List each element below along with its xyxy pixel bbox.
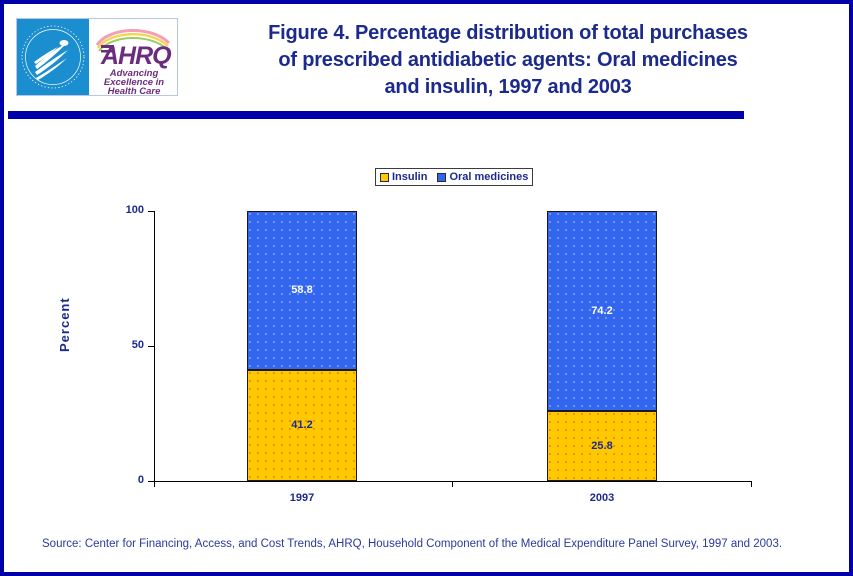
page-title-line-3: and insulin, 1997 and 2003: [188, 74, 828, 101]
bar-segment-2003-oral-medicines[interactable]: 74.2: [547, 211, 657, 411]
legend-swatch-oral-medicines: [437, 173, 446, 182]
x-tick-end: [751, 481, 752, 487]
bar-2003[interactable]: 74.2 25.8: [547, 211, 657, 481]
plot-area: 58.8 41.2 74.2 25.8: [154, 211, 751, 481]
bar-segment-1997-oral-medicines[interactable]: 58.8: [247, 211, 357, 370]
x-tick-start: [154, 481, 155, 487]
y-tick-label-50: 50: [116, 339, 144, 351]
y-tick-label-100: 100: [116, 204, 144, 216]
page-title-line-2: of prescribed antidiabetic agents: Oral …: [188, 47, 828, 74]
figure-header: AHRQ Advancing Excellence in Health Care…: [8, 8, 853, 108]
bar-value-1997-oral-medicines: 58.8: [291, 284, 312, 296]
bar-value-2003-insulin: 25.8: [591, 440, 612, 452]
bar-1997[interactable]: 58.8 41.2: [247, 211, 357, 481]
source-note: Source: Center for Financing, Access, an…: [42, 536, 817, 552]
y-axis-title: Percent: [57, 270, 73, 380]
bar-segment-2003-insulin[interactable]: 25.8: [547, 411, 657, 481]
page-title-line-1: Figure 4. Percentage distribution of tot…: [188, 20, 828, 47]
ahrq-wordmark: AHRQ Advancing Excellence in Health Care: [89, 19, 177, 95]
chart-legend: Insulin Oral medicines: [375, 168, 533, 186]
figure-frame: AHRQ Advancing Excellence in Health Care…: [0, 0, 853, 576]
y-tick-label-0: 0: [116, 474, 144, 486]
x-category-label-2003: 2003: [542, 492, 662, 504]
legend-item-oral-medicines[interactable]: Oral medicines: [437, 171, 528, 183]
svg-text:Health Care: Health Care: [108, 86, 162, 95]
bar-value-2003-oral-medicines: 74.2: [591, 305, 612, 317]
bar-segment-1997-insulin[interactable]: 41.2: [247, 370, 357, 481]
legend-item-insulin[interactable]: Insulin: [380, 171, 427, 183]
bar-value-1997-insulin: 41.2: [291, 419, 312, 431]
legend-swatch-insulin: [380, 173, 389, 182]
x-tick-middle: [452, 481, 453, 487]
x-category-label-1997: 1997: [242, 492, 362, 504]
page-title: Figure 4. Percentage distribution of tot…: [188, 20, 828, 101]
hhs-seal-icon: [17, 19, 89, 95]
ahrq-logo: AHRQ Advancing Excellence in Health Care: [16, 18, 178, 96]
header-divider: [8, 111, 744, 119]
legend-label-oral-medicines: Oral medicines: [449, 171, 528, 183]
legend-label-insulin: Insulin: [392, 171, 427, 183]
